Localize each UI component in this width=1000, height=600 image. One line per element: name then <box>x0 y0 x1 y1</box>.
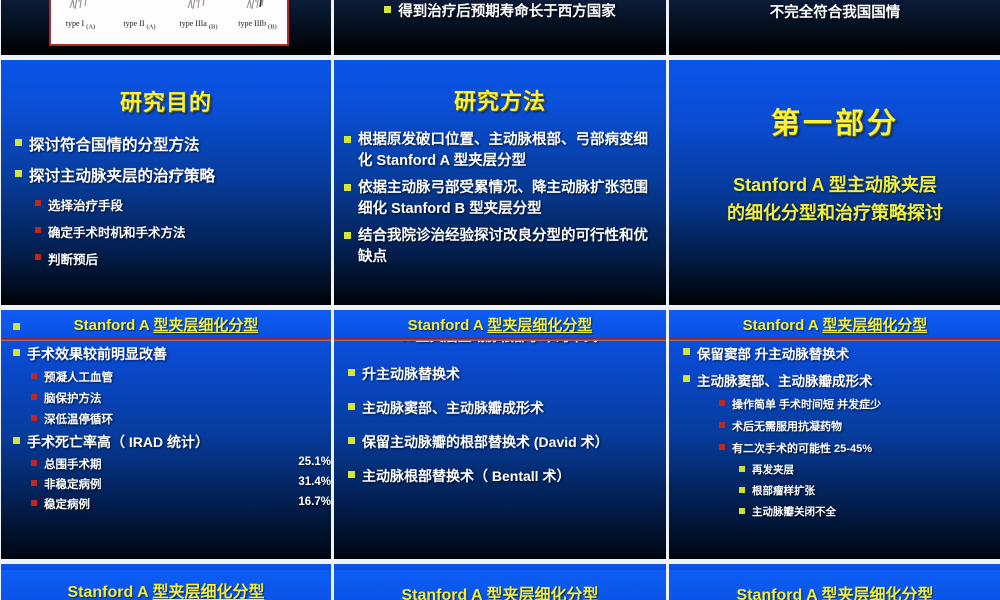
bullet-text: 选择治疗手段 <box>48 195 331 214</box>
slide-thumbnail-r1c3[interactable]: 不完全符合我国国情 <box>669 0 1000 55</box>
slide-thumbnail-r3c2[interactable]: Stanford A 型夹层细化分型 A 型夹层主动脉根部手术的术式 升主动脉替… <box>334 310 666 559</box>
slide-title-band: Stanford A 型夹层细化分型 <box>669 310 1000 338</box>
figure-caption: type IIIa (B) <box>169 19 228 31</box>
bullet-marker-icon <box>31 460 37 466</box>
bullet-item: 主动脉窦部、主动脉瓣成形术 <box>348 398 666 418</box>
bullet-line: 得到治疗后预期寿命长于西方国家 <box>334 0 666 21</box>
section-heading: 第一部分 <box>669 100 1000 142</box>
slide-title: Stanford A 型夹层细化分型 <box>74 314 259 335</box>
slide-thumbnail-r2c1[interactable]: 研究目的 探讨符合国情的分型方法 探讨主动脉夹层的治疗策略 选择治疗手段 确定手… <box>1 60 331 305</box>
bullet-marker-icon <box>13 437 20 444</box>
bullet-item: 探讨符合国情的分型方法 <box>15 133 331 155</box>
bullet-text: 根据原发破口位置、主动脉根部、弓部病变细化 Stanford A 型夹层分型 <box>358 130 656 171</box>
slide-thumbnail-r1c1[interactable]: type I (A) type II (A) type IIIa (B) typ… <box>1 0 331 55</box>
bullet-item: 升主动脉替换术 <box>348 364 666 384</box>
bullet-marker-icon <box>35 254 41 260</box>
section-subtitle-line: 的细化分型和治疗策略探讨 <box>669 200 1000 228</box>
bullet-item: 探讨主动脉夹层的治疗策略 <box>15 164 331 186</box>
bullet-marker-icon <box>384 6 391 13</box>
bullet-item: 保留窦部 升主动脉替换术 <box>683 343 1000 363</box>
slide-title-band: Stanford A 型夹层细化分型 <box>334 310 666 338</box>
bullet-marker-icon <box>719 422 725 428</box>
slide-thumbnail-r2c2[interactable]: 研究方法 根据原发破口位置、主动脉根部、弓部病变细化 Stanford A 型夹… <box>334 60 666 305</box>
bullet-item: 深低温停循环 <box>31 411 331 427</box>
bullet-marker-icon <box>35 227 41 233</box>
bullet-marker-icon <box>31 415 37 421</box>
figure-caption: type I (A) <box>51 19 110 31</box>
bullet-item: 预凝人工血管 <box>31 369 331 385</box>
bullet-item: 手术死亡率高（ IRAD 统计） <box>13 432 331 452</box>
bullet-item: 依据主动脉弓部受累情况、降主动脉扩张范围细化 Stanford B 型夹层分型 <box>344 178 656 219</box>
bullet-text: 主动脉根部替换术（ Bentall 术） <box>362 466 666 486</box>
bullet-text: 得到治疗后预期寿命长于西方国家 <box>398 0 616 21</box>
slide-thumbnail-r4c2[interactable]: Stanford A 型夹层细化分型 <box>334 564 666 600</box>
bullet-text: 主动脉窦部、主动脉瓣成形术 <box>697 370 1000 390</box>
slide-title: 研究方法 <box>334 84 666 116</box>
bullet-item: 总围手术期 25.1% <box>31 456 331 472</box>
bullet-item: 脑保护方法 <box>31 390 331 406</box>
slide-title-band: Stanford A 型夹层细化分型 <box>334 570 666 600</box>
slide-title: Stanford A 型夹层细化分型 <box>736 581 933 600</box>
figure-caption: type IIIb (B) <box>228 19 287 31</box>
bullet-item: 再发夹层 <box>739 462 1000 477</box>
bullet-item: 有二次手术的可能性 25-45% <box>719 440 1000 456</box>
bullet-text: 保留窦部 升主动脉替换术 <box>697 343 1000 363</box>
figure-caption: type II (A) <box>110 19 169 31</box>
bullet-marker-icon <box>344 232 351 239</box>
aorta-diagram-type-1 <box>51 0 110 14</box>
bullet-text: 确定手术时机和手术方法 <box>48 222 331 241</box>
slide-title: Stanford A 型夹层细化分型 <box>401 581 598 600</box>
title-divider <box>334 338 666 341</box>
bullet-marker-icon <box>739 508 745 514</box>
slide-title: 研究目的 <box>1 85 331 117</box>
aorta-diagram-type-3b <box>228 0 287 14</box>
slide-title: Stanford A 型夹层细化分型 <box>408 314 593 335</box>
bullet-marker-icon <box>15 170 22 177</box>
figure-captions: type I (A) type II (A) type IIIa (B) typ… <box>51 19 287 31</box>
bullet-marker-icon <box>348 403 355 410</box>
bullet-value: 31.4% <box>298 476 331 488</box>
aorta-diagram-type-2 <box>110 0 169 14</box>
bullet-list: 主动脉疾病中常见的灾难性病变 手术效果较前明显改善 预凝人工血管 脑保护方法 深… <box>13 318 331 512</box>
bullet-text: 预凝人工血管 <box>44 369 331 385</box>
slide-title: Stanford A 型夹层细化分型 <box>743 314 928 335</box>
bullet-text: 深低温停循环 <box>44 411 331 427</box>
bullet-marker-icon <box>344 136 351 143</box>
bullet-item: 稳定病例 16.7% <box>31 496 331 512</box>
slide-thumbnail-r1c2[interactable]: 得到治疗后预期寿命长于西方国家 <box>334 0 666 55</box>
title-divider <box>1 338 331 341</box>
bullet-text: 再发夹层 <box>752 462 1000 477</box>
bullet-item: 术后无需服用抗凝药物 <box>719 418 1000 434</box>
bullet-text: 手术效果较前明显改善 <box>27 344 331 364</box>
bullet-text: 术后无需服用抗凝药物 <box>732 418 1000 434</box>
slide-thumbnail-r3c3[interactable]: Stanford A 型夹层细化分型 主动脉根部手术术式（一） 保留窦部 升主动… <box>669 310 1000 559</box>
bullet-text: 有二次手术的可能性 25-45% <box>732 440 1000 456</box>
bullet-item: 操作简单 手术时间短 并发症少 <box>719 396 1000 412</box>
bullet-text: 总围手术期 <box>44 456 276 472</box>
bullet-marker-icon <box>31 480 37 486</box>
bullet-marker-icon <box>683 348 690 355</box>
bullet-value: 16.7% <box>298 496 331 508</box>
bullet-text: 保留主动脉瓣的根部替换术 (David 术） <box>362 432 666 452</box>
bullet-item: 手术效果较前明显改善 <box>13 344 331 364</box>
bullet-list: 保留窦部 升主动脉替换术 主动脉窦部、主动脉瓣成形术 操作简单 手术时间短 并发… <box>683 343 1000 519</box>
bullet-list: 升主动脉替换术 主动脉窦部、主动脉瓣成形术 保留主动脉瓣的根部替换术 (Davi… <box>348 364 666 486</box>
aorta-diagram-type-3a <box>169 0 228 14</box>
title-divider <box>669 338 1000 341</box>
bullet-marker-icon <box>31 394 37 400</box>
bullet-item: 判断预后 <box>35 249 331 268</box>
bullet-text: 主动脉瓣关闭不全 <box>752 504 1000 519</box>
section-subtitle: Stanford A 型主动脉夹层 的细化分型和治疗策略探讨 <box>669 172 1000 228</box>
slide-grid: type I (A) type II (A) type IIIa (B) typ… <box>0 0 1000 600</box>
figure-drawings <box>51 0 287 14</box>
bullet-marker-icon <box>13 349 20 356</box>
bullet-marker-icon <box>683 375 690 382</box>
bullet-text: 根部瘤样扩张 <box>752 483 1000 498</box>
bullet-marker-icon <box>719 400 725 406</box>
bullet-item: 确定手术时机和手术方法 <box>35 222 331 241</box>
bullet-marker-icon <box>739 466 745 472</box>
bullet-item: 主动脉瓣关闭不全 <box>739 504 1000 519</box>
slide-thumbnail-r3c1[interactable]: Stanford A 型夹层细化分型 主动脉疾病中常见的灾难性病变 手术效果较前… <box>1 310 331 559</box>
bullet-marker-icon <box>31 373 37 379</box>
bullet-item: 主动脉根部替换术（ Bentall 术） <box>348 466 666 486</box>
bullet-value: 25.1% <box>298 456 331 468</box>
bullet-text: 脑保护方法 <box>44 390 331 406</box>
slide-title-band: Stanford A 型夹层细化分型 <box>1 570 331 600</box>
slide-title: Stanford A 型夹层细化分型 <box>67 578 264 600</box>
slide-title-band: Stanford A 型夹层细化分型 <box>1 310 331 338</box>
bullet-text: 探讨符合国情的分型方法 <box>29 133 331 155</box>
bullet-list: 探讨符合国情的分型方法 探讨主动脉夹层的治疗策略 选择治疗手段 确定手术时机和手… <box>15 133 331 268</box>
bullet-text: 手术死亡率高（ IRAD 统计） <box>27 432 331 452</box>
bullet-item: 结合我院诊治经验探讨改良分型的可行性和优缺点 <box>344 226 656 267</box>
bullet-marker-icon <box>15 139 22 146</box>
slide-thumbnail-r2c3[interactable]: 第一部分 Stanford A 型主动脉夹层 的细化分型和治疗策略探讨 <box>669 60 1000 305</box>
bullet-text: 结合我院诊治经验探讨改良分型的可行性和优缺点 <box>358 226 656 267</box>
bullet-marker-icon <box>13 323 20 330</box>
bullet-item: 非稳定病例 31.4% <box>31 476 331 492</box>
bullet-text: 稳定病例 <box>44 496 264 512</box>
bullet-item: 根据原发破口位置、主动脉根部、弓部病变细化 Stanford A 型夹层分型 <box>344 130 656 171</box>
section-subtitle-line: Stanford A 型主动脉夹层 <box>669 172 1000 200</box>
bullet-text: 非稳定病例 <box>44 476 276 492</box>
bullet-item: 保留主动脉瓣的根部替换术 (David 术） <box>348 432 666 452</box>
bullet-marker-icon <box>348 471 355 478</box>
bullet-text: 依据主动脉弓部受累情况、降主动脉扩张范围细化 Stanford B 型夹层分型 <box>358 178 656 219</box>
bullet-list: 根据原发破口位置、主动脉根部、弓部病变细化 Stanford A 型夹层分型 依… <box>344 130 656 267</box>
bullet-marker-icon <box>31 500 37 506</box>
bullet-text: 探讨主动脉夹层的治疗策略 <box>29 164 331 186</box>
bullet-text: 判断预后 <box>48 249 331 268</box>
aorta-type-figure: type I (A) type II (A) type IIIa (B) typ… <box>49 0 289 46</box>
bullet-marker-icon <box>719 444 725 450</box>
bullet-marker-icon <box>348 437 355 444</box>
bullet-marker-icon <box>35 200 41 206</box>
bullet-text: 升主动脉替换术 <box>362 364 666 384</box>
bullet-item: 选择治疗手段 <box>35 195 331 214</box>
text-line: 不完全符合我国国情 <box>669 1 1000 22</box>
bullet-item: 主动脉窦部、主动脉瓣成形术 <box>683 370 1000 390</box>
slide-text: 不完全符合我国国情 <box>770 1 901 22</box>
slide-thumbnail-r4c3[interactable]: Stanford A 型夹层细化分型 <box>669 564 1000 600</box>
bullet-marker-icon <box>344 184 351 191</box>
bullet-marker-icon <box>348 369 355 376</box>
bullet-marker-icon <box>739 487 745 493</box>
slide-thumbnail-r4c1[interactable]: Stanford A 型夹层细化分型 <box>1 564 331 600</box>
bullet-item: 根部瘤样扩张 <box>739 483 1000 498</box>
slide-title-band: Stanford A 型夹层细化分型 <box>669 570 1000 600</box>
bullet-text: 操作简单 手术时间短 并发症少 <box>732 396 1000 412</box>
bullet-text: 主动脉窦部、主动脉瓣成形术 <box>362 398 666 418</box>
